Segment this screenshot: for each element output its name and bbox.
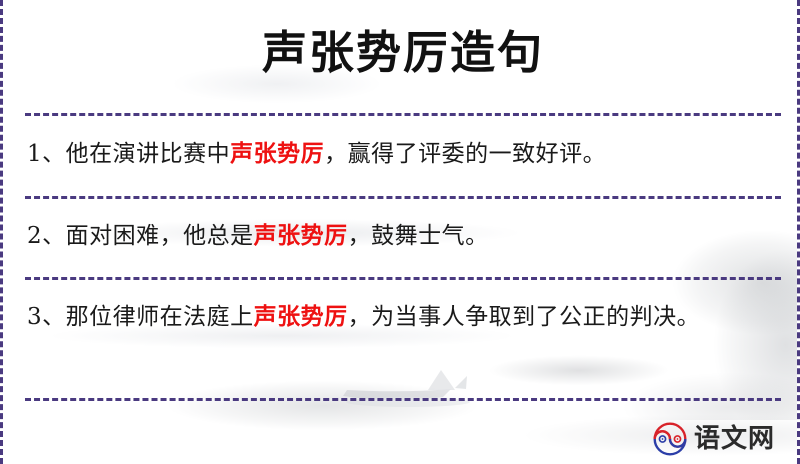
worksheet-page: 声张势厉造句 1、他在演讲比赛中声张势厉，赢得了评委的一致好评。 2、面对困难，…	[0, 0, 800, 464]
sentence-1-index: 1、	[27, 141, 66, 167]
sentence-3-text-before: 那位律师在法庭上	[66, 304, 254, 330]
sentence-3-index: 3、	[27, 304, 66, 330]
divider-bottom	[25, 398, 781, 401]
sentence-1-text-before: 他在演讲比赛中	[66, 141, 231, 167]
page-title: 声张势厉造句	[25, 0, 781, 86]
sentence-item-1: 1、他在演讲比赛中声张势厉，赢得了评委的一致好评。	[25, 116, 781, 196]
sentence-1-text-after: ，赢得了评委的一致好评。	[324, 141, 606, 167]
sentence-1-keyword: 声张势厉	[230, 140, 324, 167]
sentence-item-3: 3、那位律师在法庭上声张势厉，为当事人争取到了公正的判决。	[25, 280, 781, 398]
yin-yang-icon	[653, 422, 687, 456]
sentence-3-text-after: ，为当事人争取到了公正的判决。	[348, 304, 701, 330]
site-logo-text: 语文网	[694, 426, 775, 452]
sentence-2-index: 2、	[27, 223, 66, 249]
sentence-2-text-after: ，鼓舞士气。	[348, 223, 489, 249]
sentence-2-text-before: 面对困难，他总是	[66, 223, 254, 249]
worksheet-content: 声张势厉造句 1、他在演讲比赛中声张势厉，赢得了评委的一致好评。 2、面对困难，…	[3, 0, 800, 464]
sentence-3-keyword: 声张势厉	[254, 303, 348, 330]
sentence-2-keyword: 声张势厉	[254, 222, 348, 249]
sentence-item-2: 2、面对困难，他总是声张势厉，鼓舞士气。	[25, 199, 781, 277]
site-logo[interactable]: 语文网	[653, 422, 775, 456]
